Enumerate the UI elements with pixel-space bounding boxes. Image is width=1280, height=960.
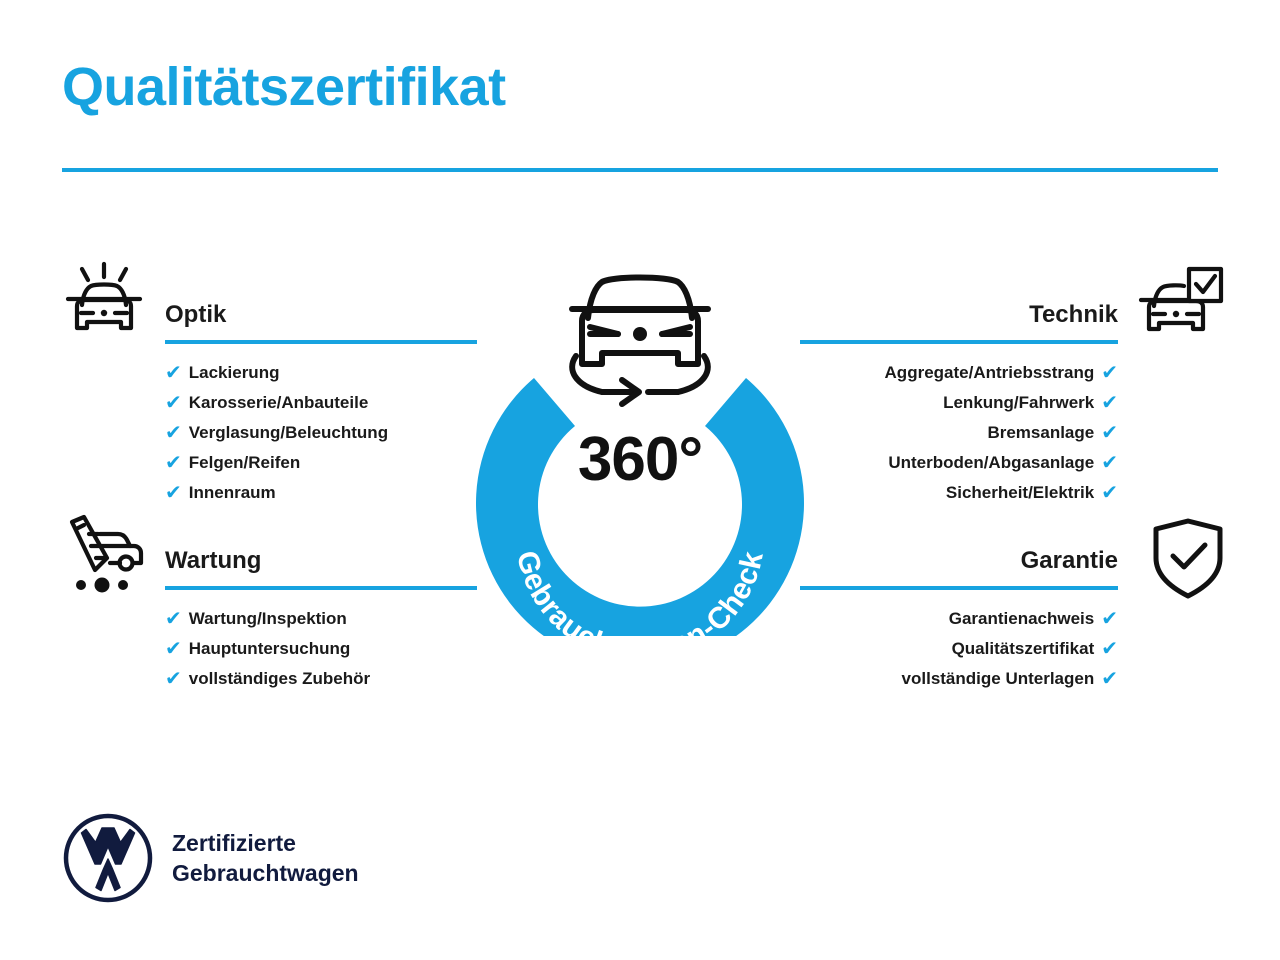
list-item-label: Felgen/Reifen: [189, 448, 300, 478]
car-rotate-icon: [572, 278, 708, 405]
section-optik-header: Optik: [165, 300, 477, 344]
check-icon: ✔: [1101, 453, 1118, 473]
list-item-label: Lenkung/Fahrwerk: [943, 388, 1094, 418]
list-item-label: Hauptuntersuchung: [189, 634, 351, 664]
list-item-label: Qualitätszertifikat: [952, 634, 1095, 664]
check-icon: ✔: [1101, 639, 1118, 659]
list-item-label: Sicherheit/Elektrik: [946, 478, 1094, 508]
section-technik: Technik Aggregate/Antriebsstrang✔ Lenkun…: [800, 300, 1118, 508]
vw-roundel-icon: [62, 812, 154, 904]
section-wartung-header: Wartung: [165, 546, 477, 590]
section-garantie-header: Garantie: [800, 546, 1118, 590]
list-item-label: Bremsanlage: [987, 418, 1094, 448]
section-optik: Optik ✔Lackierung ✔Karosserie/Anbauteile…: [165, 300, 477, 508]
list-item: Unterboden/Abgasanlage✔: [800, 448, 1118, 478]
header-divider: [62, 168, 1218, 172]
list-item: ✔Felgen/Reifen: [165, 448, 477, 478]
list-item: Garantienachweis✔: [800, 604, 1118, 634]
list-item: Sicherheit/Elektrik✔: [800, 478, 1118, 508]
section-technik-divider: [800, 340, 1118, 344]
check-icon: ✔: [165, 639, 182, 659]
section-garantie: Garantie Garantienachweis✔ Qualitätszert…: [800, 546, 1118, 694]
list-item-label: Garantienachweis: [949, 604, 1095, 634]
page-title: Qualitätszertifikat: [62, 58, 506, 117]
list-item-label: Aggregate/Antriebsstrang: [885, 358, 1095, 388]
list-item-label: Wartung/Inspektion: [189, 604, 347, 634]
section-optik-list: ✔Lackierung ✔Karosserie/Anbauteile ✔Verg…: [165, 358, 477, 508]
check-icon: ✔: [165, 363, 182, 383]
footer-logo: Zertifizierte Gebrauchtwagen: [62, 812, 359, 904]
badge-360-check: Gebrauchtwagen-Check 360°: [462, 246, 818, 636]
section-garantie-divider: [800, 586, 1118, 590]
list-item-label: vollständige Unterlagen: [902, 664, 1095, 694]
shield-check-icon: [1142, 512, 1234, 604]
pen-car-service-icon: [58, 508, 150, 600]
section-wartung: Wartung ✔Wartung/Inspektion ✔Hauptunters…: [165, 546, 477, 694]
list-item: ✔Verglasung/Beleuchtung: [165, 418, 477, 448]
list-item-label: Innenraum: [189, 478, 276, 508]
section-wartung-title: Wartung: [165, 546, 477, 576]
list-item: Bremsanlage✔: [800, 418, 1118, 448]
section-optik-title: Optik: [165, 300, 477, 330]
list-item: ✔Innenraum: [165, 478, 477, 508]
list-item: ✔Hauptuntersuchung: [165, 634, 477, 664]
section-garantie-title: Garantie: [800, 546, 1118, 576]
check-icon: ✔: [1101, 423, 1118, 443]
car-checkbox-icon: [1134, 262, 1226, 354]
check-icon: ✔: [1101, 363, 1118, 383]
check-icon: ✔: [165, 453, 182, 473]
section-optik-divider: [165, 340, 477, 344]
footer-line-2: Gebrauchtwagen: [172, 858, 359, 888]
list-item-label: vollständiges Zubehör: [189, 664, 370, 694]
footer-text: Zertifizierte Gebrauchtwagen: [172, 828, 359, 888]
check-icon: ✔: [1101, 393, 1118, 413]
footer-line-1: Zertifizierte: [172, 828, 359, 858]
check-icon: ✔: [165, 483, 182, 503]
list-item: ✔Wartung/Inspektion: [165, 604, 477, 634]
list-item: Lenkung/Fahrwerk✔: [800, 388, 1118, 418]
list-item: Aggregate/Antriebsstrang✔: [800, 358, 1118, 388]
list-item: Qualitätszertifikat✔: [800, 634, 1118, 664]
list-item: ✔vollständiges Zubehör: [165, 664, 477, 694]
section-technik-list: Aggregate/Antriebsstrang✔ Lenkung/Fahrwe…: [800, 358, 1118, 508]
list-item-label: Lackierung: [189, 358, 280, 388]
list-item-label: Verglasung/Beleuchtung: [189, 418, 388, 448]
section-wartung-list: ✔Wartung/Inspektion ✔Hauptuntersuchung ✔…: [165, 604, 477, 694]
check-icon: ✔: [165, 423, 182, 443]
list-item: ✔Karosserie/Anbauteile: [165, 388, 477, 418]
section-garantie-list: Garantienachweis✔ Qualitätszertifikat✔ v…: [800, 604, 1118, 694]
check-icon: ✔: [1101, 609, 1118, 629]
list-item: vollständige Unterlagen✔: [800, 664, 1118, 694]
check-icon: ✔: [165, 609, 182, 629]
section-technik-title: Technik: [800, 300, 1118, 330]
list-item-label: Unterboden/Abgasanlage: [888, 448, 1094, 478]
check-icon: ✔: [1101, 483, 1118, 503]
car-shine-icon: [58, 258, 150, 350]
check-icon: ✔: [1101, 669, 1118, 689]
list-item-label: Karosserie/Anbauteile: [189, 388, 369, 418]
check-icon: ✔: [165, 669, 182, 689]
check-icon: ✔: [165, 393, 182, 413]
list-item: ✔Lackierung: [165, 358, 477, 388]
section-technik-header: Technik: [800, 300, 1118, 344]
section-wartung-divider: [165, 586, 477, 590]
